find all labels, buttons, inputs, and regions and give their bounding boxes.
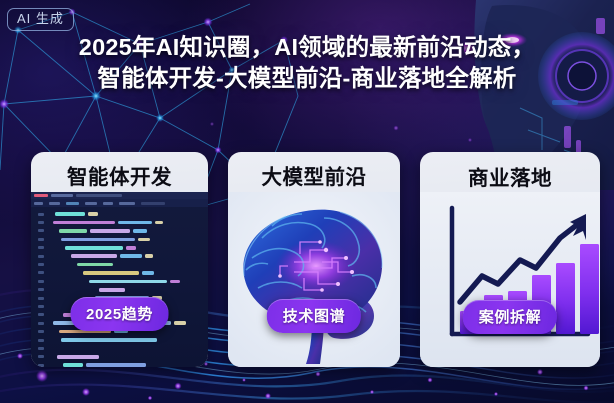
ai-generated-badge: AI 生成	[7, 8, 74, 31]
card-pill-2025-trend[interactable]: 2025趋势	[70, 297, 169, 331]
glowing-brain-illustration	[228, 192, 400, 367]
growth-bar-chart	[420, 192, 600, 367]
editor-titlebar	[31, 192, 208, 199]
card-media-code-editor	[31, 192, 208, 367]
page-title: 2025年AI知识圈，AI领域的最新前沿动态， 智能体开发-大模型前沿-商业落地…	[0, 32, 614, 95]
editor-code-area	[31, 207, 208, 367]
card-large-model-frontier[interactable]: 大模型前沿	[228, 152, 400, 367]
card-title-commercial-landing: 商业落地	[420, 152, 600, 192]
headline-line-2: 智能体开发-大模型前沿-商业落地全解析	[12, 63, 602, 94]
editor-tabbar	[31, 199, 208, 207]
card-pill-case-study[interactable]: 案例拆解	[463, 300, 557, 334]
cards-row: 智能体开发	[0, 152, 614, 367]
card-media-brain	[228, 192, 400, 367]
headline-line-1: 2025年AI知识圈，AI领域的最新前沿动态，	[79, 34, 535, 60]
card-agent-development[interactable]: 智能体开发	[31, 152, 208, 367]
card-title-agent-development: 智能体开发	[31, 152, 208, 192]
code-editor-screenshot	[31, 192, 208, 367]
card-title-large-model-frontier: 大模型前沿	[228, 152, 400, 192]
poster-canvas: AI 生成 2025年AI知识圈，AI领域的最新前沿动态， 智能体开发-大模型前…	[0, 0, 614, 403]
card-pill-tech-map[interactable]: 技术图谱	[267, 299, 361, 333]
card-media-growth-chart	[420, 192, 600, 367]
card-commercial-landing[interactable]: 商业落地	[420, 152, 600, 367]
